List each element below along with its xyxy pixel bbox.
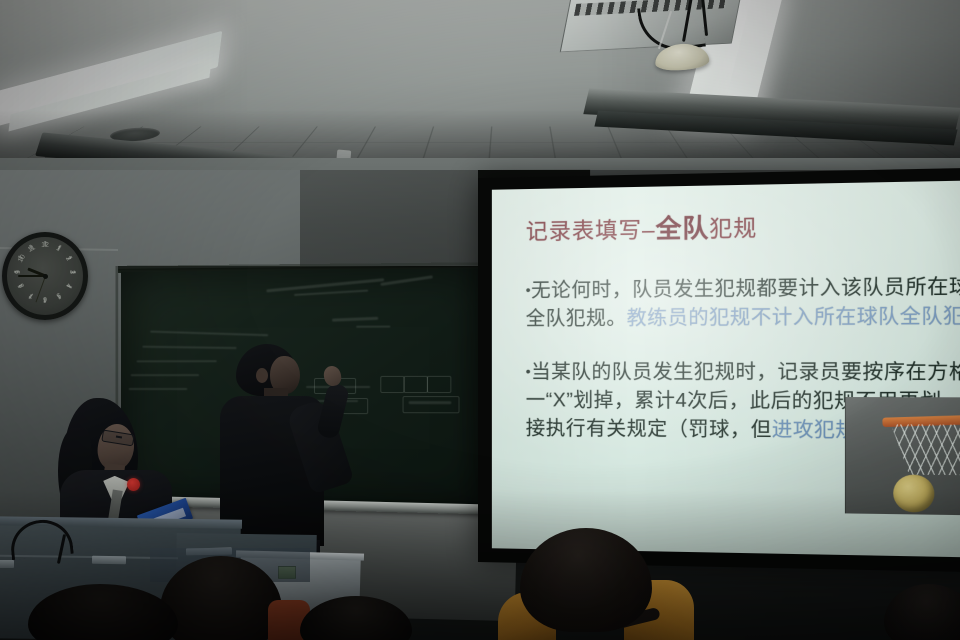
slide-title-suffix: 犯规 xyxy=(709,216,757,242)
clock-numeral: 11 xyxy=(27,244,37,254)
slide-title: 记录表填写–全队犯规 xyxy=(526,203,960,247)
student-front-right xyxy=(884,584,960,640)
clock-numeral: 1 xyxy=(55,245,62,253)
projection-screen-frame: 记录表填写–全队犯规 •无论何时，队员发生犯规都要计入该队员所在球队的 全队犯规… xyxy=(478,167,960,572)
clock-face: 12 1 2 3 4 5 6 7 8 9 10 11 xyxy=(7,237,83,315)
man-forearm xyxy=(316,382,350,440)
clock-numeral: 10 xyxy=(17,254,27,264)
student-front-left-2 xyxy=(28,584,198,640)
projection-screen: 记录表填写–全队犯规 •无论何时，队员发生犯规都要计入该队员所在球队的 全队犯规… xyxy=(492,180,960,557)
hoop-net xyxy=(891,424,960,475)
clock-numeral: 6 xyxy=(43,295,47,302)
bullet-1-line-1: 无论何时，队员发生犯规都要计入该队员所在球队的 xyxy=(531,275,960,302)
lectern-handle xyxy=(92,556,126,565)
clock-numeral: 8 xyxy=(18,282,26,289)
lectern-handle xyxy=(0,560,14,568)
student-head xyxy=(520,528,652,632)
clock-center-pin xyxy=(43,274,48,279)
bullet-1-line-2-highlight: 教练员的犯规不计入所在球队全队犯规。 xyxy=(627,304,960,329)
classroom-scene: 12 1 2 3 4 5 6 7 8 9 10 11 xyxy=(0,0,960,640)
bullet-1-line-2-plain: 全队犯规。 xyxy=(526,307,627,330)
student-orange-jacket xyxy=(498,528,686,640)
clock-numeral: 12 xyxy=(41,242,49,249)
red-badge xyxy=(127,478,140,491)
student-head xyxy=(884,584,960,640)
slide-title-prefix: 记录表填写– xyxy=(526,217,656,244)
basketball xyxy=(893,474,934,512)
student-front-left-3 xyxy=(300,596,420,640)
wall-clock: 12 1 2 3 4 5 6 7 8 9 10 11 xyxy=(2,232,88,320)
slide-title-emphasis: 全队 xyxy=(656,214,710,243)
student-head xyxy=(28,584,178,640)
clock-numeral: 2 xyxy=(64,255,72,262)
slide-bullet-1: •无论何时，队员发生犯规都要计入该队员所在球队的 全队犯规。教练员的犯规不计入所… xyxy=(526,273,960,333)
student-head xyxy=(300,596,412,640)
clock-numeral: 7 xyxy=(28,291,35,299)
slide-content: 记录表填写–全队犯规 •无论何时，队员发生犯规都要计入该队员所在球队的 全队犯规… xyxy=(492,180,960,557)
bullet-2-line-1: 当某队的队员发生犯规时，记录员要按序在方格内用 xyxy=(531,361,960,384)
man-ear xyxy=(256,368,268,383)
clock-minute-hand xyxy=(18,275,45,277)
clock-numeral: 3 xyxy=(68,270,75,274)
basketball-hoop-image xyxy=(845,397,960,515)
clock-numeral: 9 xyxy=(15,270,22,274)
bullet-2-line-3-plain: 接执行有关规定（罚球，但 xyxy=(526,417,772,441)
